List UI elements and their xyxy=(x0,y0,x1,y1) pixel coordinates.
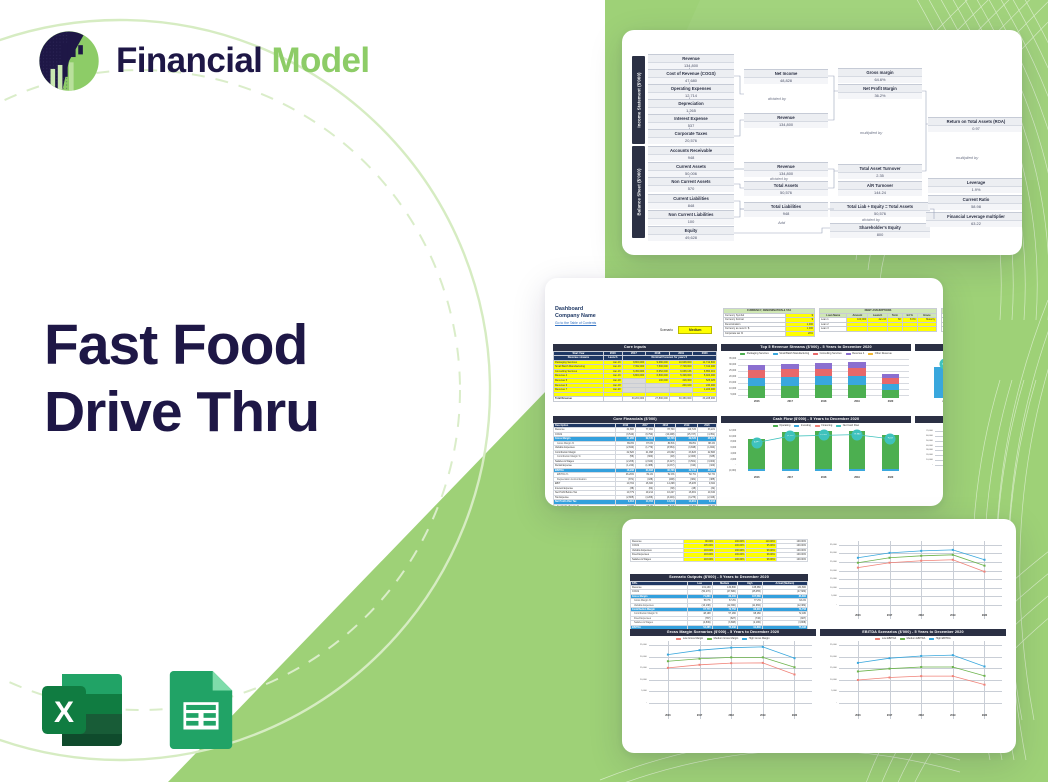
dashboard-heading: Dashboard Company Name Go to the Table o… xyxy=(555,306,596,327)
bar-segment xyxy=(748,378,765,387)
net-cash-flow-line xyxy=(721,428,911,474)
svg-text:X: X xyxy=(54,696,74,729)
legend-swatch xyxy=(815,425,820,427)
legend-item: Other Revenue xyxy=(868,352,891,355)
dashboard-title: Dashboard xyxy=(555,306,596,313)
dashboard-body: Dashboard Company Name Go to the Table o… xyxy=(545,278,943,506)
operator-divided-by-3: divided by xyxy=(862,217,880,222)
brand-name-secondary: Model xyxy=(271,41,369,80)
series-lines xyxy=(820,641,1006,719)
x-tick: 2016 xyxy=(754,476,760,479)
chart-plot: 46.4%201642.7%201745.1%201844.8%201955%2… xyxy=(915,356,943,398)
table-row: Total Revenue30,200,00027,800,00030,450,… xyxy=(554,397,717,402)
legend-label: Financing xyxy=(821,424,832,427)
chart-plot: 70,00060,00050,00040,00030,00020,00010,0… xyxy=(915,428,943,476)
series-lines xyxy=(630,641,816,719)
y-tick: 35,000 xyxy=(721,358,736,360)
brand-wordmark: Financial Model xyxy=(116,41,370,81)
node-depreciation: Depreciation 1,265 xyxy=(648,99,734,114)
x-tick: 2016 xyxy=(942,400,943,403)
x-tick: 2018 xyxy=(821,400,827,403)
node-non-current-liabilities: Non Current Liabilities 100 xyxy=(648,210,734,225)
node-total-liabilities: Total Liabilities 948 xyxy=(744,202,828,217)
node-gross-margin: Gross margin 64.6% xyxy=(838,68,922,83)
legend-item: Investing xyxy=(794,424,811,427)
node-total-liab-equity: Total Liab + Equity = Total Assets 50,57… xyxy=(830,202,930,217)
slide-canvas: Financial Model Fast Food Drive Thru X xyxy=(0,0,1048,782)
node-net-income: Net Income 48,828 xyxy=(744,69,828,84)
table-row: Net Profit after tax %34.5%33.1%34.1%34.… xyxy=(554,504,717,506)
legend-label: Low EBITDA xyxy=(882,637,896,640)
legend-item: Low EBITDA xyxy=(875,637,896,640)
x-tick: 2016 xyxy=(754,400,760,403)
y-tick: 5,000 xyxy=(721,394,736,396)
legend-item: Medium EBITDA xyxy=(900,637,925,640)
core-inputs-panel: Core Inputs Start Year201620172018201920… xyxy=(553,344,717,351)
y-tick: 20,000 xyxy=(721,376,736,378)
currency-denomination-tax-table: CURRENCY, DENOMINATION & TAX Currency Sy… xyxy=(723,308,815,337)
bar-segment xyxy=(781,369,798,377)
legend-label: Other Revenue xyxy=(875,352,892,355)
working-capital-depreciation-table: WORKING CAPITAL & DEPRECIATION Accounts … xyxy=(941,308,943,332)
legend-label: High Gross Margin xyxy=(749,637,770,640)
node-operating-expenses: Operating Expenses 12,714 xyxy=(648,84,734,99)
legend-label: Investing xyxy=(801,424,811,427)
legend-label: High EBITDA xyxy=(936,637,951,640)
node-net-profit-margin: Net Profit Margin 36.2% xyxy=(838,84,922,99)
scenario-value[interactable]: Medium xyxy=(678,326,712,334)
legend-swatch xyxy=(868,353,873,355)
core-financials-table: Description 20162017201820192020 Revenue… xyxy=(553,423,717,507)
node-revenue-denominator: Revenue 134,800 xyxy=(744,113,828,128)
legend-item: Medium Gross Margin xyxy=(707,637,738,640)
bar xyxy=(882,374,899,398)
table-of-contents-link[interactable]: Go to the Table of Contents xyxy=(555,320,596,327)
bar-segment xyxy=(781,386,798,398)
scenario-outputs-table: KPIs LowMediumHighActual (Medium) Revenu… xyxy=(630,581,808,635)
legend-label: Operating xyxy=(779,424,790,427)
bar xyxy=(848,362,865,398)
legend-swatch xyxy=(676,638,681,640)
x-tick: 2020 xyxy=(888,400,894,403)
scenario-body: Revenue90.00%100.00%110.00%100.00%COGS10… xyxy=(622,519,1016,753)
bar xyxy=(815,363,832,398)
scenario-outputs-panel: Scenario Outputs ($'000) - 5 Years to De… xyxy=(630,574,808,634)
scenario-analysis-card[interactable]: Revenue90.00%100.00%110.00%100.00%COGS10… xyxy=(622,519,1016,753)
legend-item: High EBITDA xyxy=(929,637,950,640)
legend-swatch xyxy=(929,638,934,640)
bar-segment xyxy=(848,385,865,398)
spine-income-statement: Income Statement ($'000) xyxy=(632,56,645,144)
legend-swatch xyxy=(742,638,747,640)
bar-segment xyxy=(781,364,798,369)
cash-flow-chart: Cash Flow ($'000) - 5 Years to December … xyxy=(721,416,911,486)
brand-logo: Financial Model xyxy=(36,28,370,94)
legend-label: Packaging Services xyxy=(747,352,769,355)
x-tick: 2019 xyxy=(854,476,860,479)
google-sheets-icon[interactable] xyxy=(162,662,240,758)
node-total-assets: Total Assets 50,576 xyxy=(744,181,828,196)
scenario-assumptions-table: Revenue90.00%100.00%110.00%100.00%COGS10… xyxy=(630,539,808,562)
legend-item: Low Gross Margin xyxy=(676,637,703,640)
financial-dashboard-card[interactable]: Dashboard Company Name Go to the Table o… xyxy=(545,278,943,506)
bar-segment xyxy=(848,376,865,385)
series-lines xyxy=(915,428,943,476)
page-title-line1: Fast Food xyxy=(44,313,307,377)
investment-payback-chart: Investment Payback Chart ($'000) - 5 Yea… xyxy=(915,416,943,486)
legend-item: Revenue 4 xyxy=(846,352,865,355)
node-leverage: Leverage 1.9% xyxy=(928,178,1022,193)
legend-swatch xyxy=(836,425,841,427)
node-interest-expense: Interest Expense 537 xyxy=(648,114,734,129)
legend-label: Net Cash Flow xyxy=(843,424,859,427)
spine-label-balance-sheet: Balance Sheet ($'000) xyxy=(636,168,641,215)
excel-icon[interactable]: X xyxy=(34,662,130,758)
x-tick: 2017 xyxy=(787,400,793,403)
legend-item: Operating xyxy=(773,424,790,427)
legend-swatch xyxy=(813,353,818,355)
legend-item: Net Cash Flow xyxy=(836,424,859,427)
y-tick: 30,000 xyxy=(721,364,736,366)
top-revenue-streams-chart: Top 5 Revenue Streams ($'000) - 5 Years … xyxy=(721,344,911,410)
bar-segment xyxy=(848,368,865,376)
spine-label-income-statement: Income Statement ($'000) xyxy=(636,72,641,127)
node-shareholders-equity: Shareholder's Equity 800 xyxy=(830,223,930,238)
dashboard-company-name: Company Name xyxy=(555,313,596,320)
legend-item: Small Batch Manufacturing xyxy=(773,352,809,355)
legend-label: Medium EBITDA xyxy=(907,637,926,640)
operator-divided-by-1: divided by xyxy=(768,96,786,101)
y-tick: 25,000 xyxy=(721,370,736,372)
legend-label: Low Gross Margin xyxy=(683,637,703,640)
x-tick: 2019 xyxy=(854,400,860,403)
profitability-chart: Profitability ($'000) - 5 Years to Decem… xyxy=(915,344,943,410)
table-row: Salaries & Wages103.00%100.00%98.00%100.… xyxy=(631,557,808,561)
legend-label: Medium Gross Margin xyxy=(714,637,739,640)
core-financials-panel: Core Financials ($'000) Description 2016… xyxy=(553,416,717,423)
gross-margin-scenarios-panel: Gross Margin Scenarios ($'000) - 5 Years… xyxy=(630,629,816,729)
dupont-ratio-tree-card[interactable]: Income Statement ($'000) Balance Sheet (… xyxy=(622,30,1022,255)
dupont-tree: Income Statement ($'000) Balance Sheet (… xyxy=(632,52,1016,247)
page-title-line2: Drive Thru xyxy=(44,379,319,446)
debt-assumptions-table: DEBT ASSUMPTIONS Loan NameAmountLaunchTe… xyxy=(819,308,937,332)
operator-add: Add xyxy=(778,220,785,225)
node-current-assets: Current Assets 50,006 xyxy=(648,162,734,177)
legend-item: High Gross Margin xyxy=(742,637,769,640)
node-total-asset-turnover: Total Asset Turnover 2.35 xyxy=(838,164,922,179)
supported-app-icons: X xyxy=(34,662,240,758)
legend-swatch xyxy=(740,353,745,355)
bar xyxy=(748,365,765,398)
node-accounts-receivable: Accounts Receivable 948 xyxy=(648,146,734,161)
node-equity: Equity 49,628 xyxy=(648,226,734,241)
bar-segment xyxy=(748,370,765,378)
brand-name-primary: Financial xyxy=(116,41,271,80)
node-non-current-assets: Non Current Assets 570 xyxy=(648,177,734,192)
node-current-liabilities: Current Liabilities 848 xyxy=(648,194,734,209)
bar-segment xyxy=(882,384,899,390)
y-tick: 10,000 xyxy=(721,388,736,390)
legend-swatch xyxy=(846,353,851,355)
node-revenue-ta: Revenue 134,800 xyxy=(744,162,828,177)
operator-multiplied-by-1: multiplied by xyxy=(860,130,882,135)
ebitda-scenarios-panel: EBITDA Scenarios ($'000) - 5 Years to De… xyxy=(820,629,1006,729)
bar-segment xyxy=(882,378,899,384)
chart-plot: 25,00020,00015,00010,0005,000-2016201720… xyxy=(820,641,1006,719)
spine-balance-sheet: Balance Sheet ($'000) xyxy=(632,146,645,238)
legend-swatch xyxy=(794,425,799,427)
operator-multiplied-by-2: multiplied by xyxy=(956,155,978,160)
scenario-label: Scenario xyxy=(660,328,673,332)
ebitda-percent-line xyxy=(915,356,943,398)
legend-swatch xyxy=(900,638,905,640)
legend-item: Financing xyxy=(815,424,832,427)
x-tick: 2020 xyxy=(888,476,894,479)
chart-plot: 35,00030,00025,00020,00015,00010,0005,00… xyxy=(721,356,911,398)
bar-segment xyxy=(882,390,899,398)
x-tick: 2018 xyxy=(821,476,827,479)
bar-segment xyxy=(781,377,798,386)
legend-item: Packaging Services xyxy=(740,352,768,355)
bar-segment xyxy=(815,376,832,385)
chart-plot: 25,00020,00015,00010,0005,000-2016201720… xyxy=(630,641,816,719)
legend-item: Consulting Services xyxy=(813,352,842,355)
x-tick: 2017 xyxy=(787,476,793,479)
legend-label: Revenue 4 xyxy=(852,352,864,355)
node-ar-turnover: A/R Turnover 144.24 xyxy=(838,181,922,196)
node-current-ratio: Current Ratio 58.98 xyxy=(928,195,1022,210)
scenario-selector[interactable]: Scenario Medium xyxy=(660,326,712,334)
chart-plot: 12,00010,0008,0006,0004,0002,000-(2,000)… xyxy=(721,428,911,474)
bar-segment xyxy=(815,363,832,368)
series-lines xyxy=(820,541,1006,619)
node-roa: Return on Total Assets (ROA) 0.97 xyxy=(928,117,1022,132)
legend-label: Small Batch Manufacturing xyxy=(779,352,809,355)
node-cogs: Cost of Revenue (COGS) 47,680 xyxy=(648,69,734,84)
bar-segment xyxy=(748,365,765,370)
node-financial-leverage-multiplier: Financial Leverage multiplier 63.22 xyxy=(926,212,1022,227)
legend-swatch xyxy=(773,425,778,427)
legend-swatch xyxy=(773,353,778,355)
bar-segment xyxy=(848,362,865,368)
bar-segment xyxy=(815,385,832,398)
revenue-scenarios-chart: 35,00030,00025,00020,00015,00010,0005,00… xyxy=(820,541,1006,619)
bar xyxy=(781,364,798,398)
node-revenue: Revenue 134,800 xyxy=(648,54,734,69)
y-tick: 15,000 xyxy=(721,382,736,384)
circular-chart-logo-icon xyxy=(36,28,102,94)
bar-segment xyxy=(882,374,899,378)
page-title: Fast Food Drive Thru xyxy=(44,312,319,447)
bar-segment xyxy=(815,369,832,376)
legend-swatch xyxy=(707,638,712,640)
legend-swatch xyxy=(875,638,880,640)
legend-label: Consulting Services xyxy=(820,352,842,355)
node-corporate-taxes: Corporate Taxes 20,576 xyxy=(648,129,734,144)
bar-segment xyxy=(748,386,765,398)
